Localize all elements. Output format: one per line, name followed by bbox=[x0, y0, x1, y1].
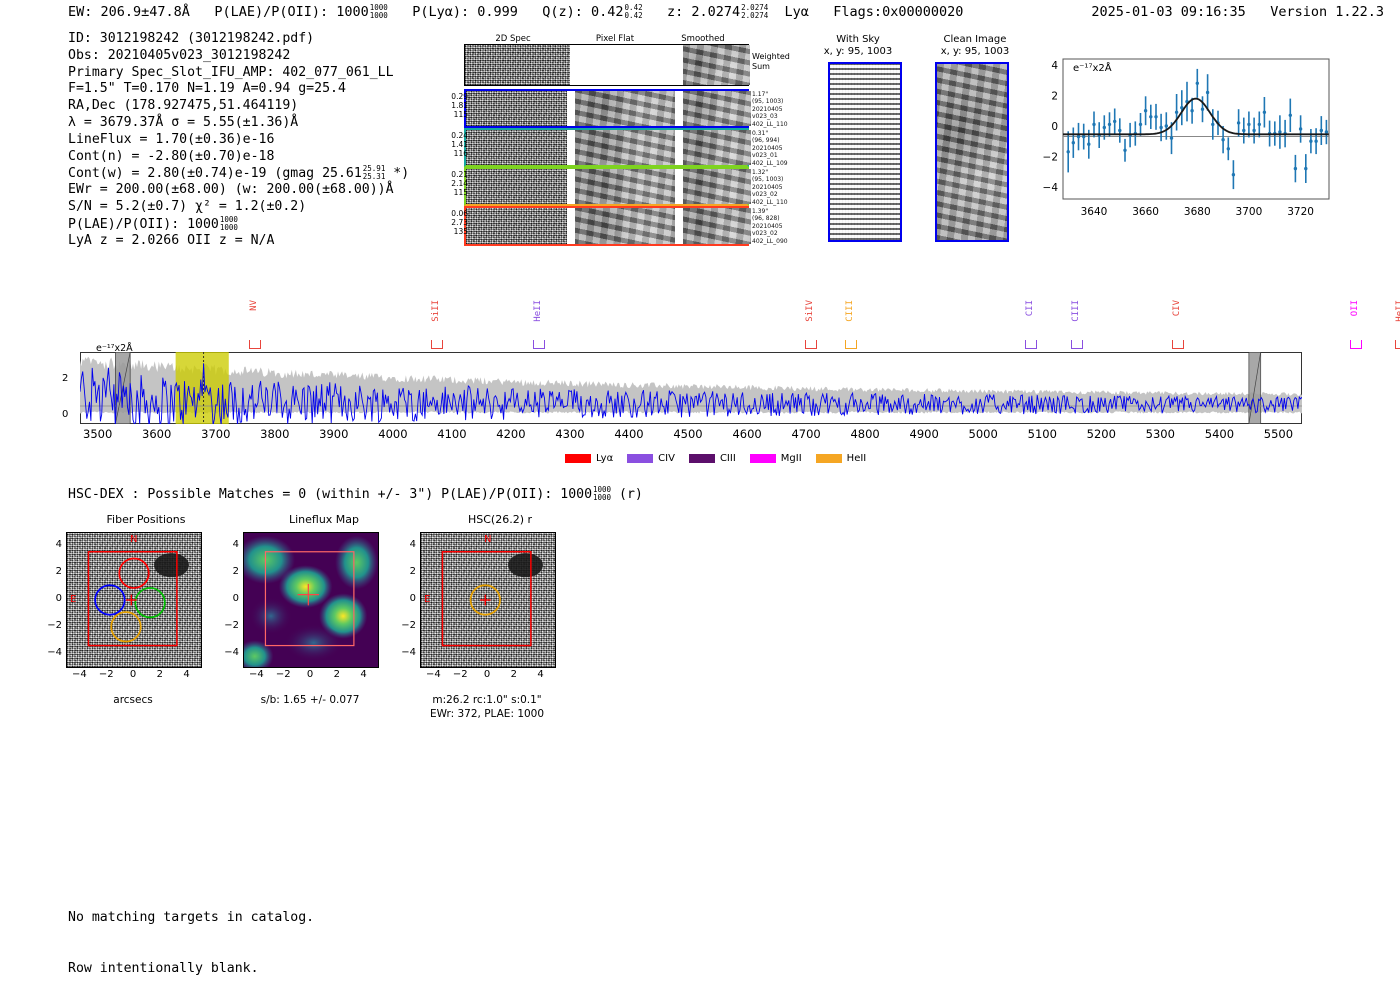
cutout-1-xtick-2: 0 bbox=[300, 669, 320, 680]
full-spectrum-xtick: 5300 bbox=[1138, 427, 1182, 441]
line-marker-bracket-1 bbox=[431, 340, 443, 349]
info-gmag-fraction: 25.9125.31 bbox=[363, 165, 386, 181]
cutout-0-ytick-4: −4 bbox=[44, 647, 62, 658]
header-ew: EW: 206.9±47.8Å bbox=[68, 4, 190, 20]
full-spectrum-xtick: 4100 bbox=[430, 427, 474, 441]
cutout-1-ytick-2: 0 bbox=[221, 593, 239, 604]
fiber-row-2 bbox=[464, 128, 749, 167]
fiber-row-3-meta: 1.32"(95, 1003) 20210405v023_02402_LL_11… bbox=[752, 169, 812, 206]
fiber-row-4-values: 0.062.73135 bbox=[438, 209, 468, 237]
line-marker-bracket-4 bbox=[845, 340, 857, 349]
footer-line-2: Row intentionally blank. bbox=[68, 960, 314, 977]
cutout-0-xtick-4: 4 bbox=[177, 669, 197, 680]
full-spectrum-ytick-2: 2 bbox=[62, 373, 68, 384]
info-radec: RA,Dec (178.927475,51.464119) bbox=[68, 98, 409, 115]
line-marker-civ-7: CIV bbox=[1172, 300, 1182, 316]
svg-text:−2: −2 bbox=[1043, 151, 1058, 163]
full-spectrum-line-markers: NVSiIIHeIISiIVCIIICIICIIICIVOIIHeIICIIMg… bbox=[0, 300, 1400, 355]
svg-text:3680: 3680 bbox=[1184, 206, 1211, 218]
svg-text:3660: 3660 bbox=[1132, 206, 1159, 218]
header-timestamp: 2025-01-03 09:16:35 bbox=[1091, 4, 1245, 20]
legend-label-lyα: Lyα bbox=[596, 453, 613, 464]
panel-title-smoothed: Smoothed bbox=[668, 34, 738, 44]
cutout-2-ytick-3: −2 bbox=[398, 620, 416, 631]
line-fit-svg: 36403660368037003720 −4−2024 bbox=[1035, 55, 1335, 230]
panel-label-weighted-sum: WeightedSum bbox=[752, 52, 790, 71]
header-plae-label: P(LAE)/P(OII): 1000 bbox=[214, 4, 368, 20]
full-spectrum-xtick: 4400 bbox=[607, 427, 651, 441]
legend-swatch-heii bbox=[816, 454, 842, 463]
header-flags: Flags:0x00000020 bbox=[833, 4, 963, 20]
full-spectrum-xtick: 4000 bbox=[371, 427, 415, 441]
header-meta: 2025-01-03 09:16:35 Version 1.22.3 bbox=[1091, 4, 1384, 20]
legend-swatch-civ bbox=[627, 454, 653, 463]
legend-label-heii: HeII bbox=[847, 453, 867, 464]
legend-swatch-ciii bbox=[689, 454, 715, 463]
line-marker-bracket-2 bbox=[533, 340, 545, 349]
hsc-r-overlay bbox=[421, 533, 555, 667]
line-marker-bracket-3 bbox=[805, 340, 817, 349]
line-marker-ciii-6: CIII bbox=[1071, 300, 1081, 322]
full-spectrum-xtick: 4500 bbox=[666, 427, 710, 441]
cutout-1-ytick-0: 4 bbox=[221, 539, 239, 550]
weighted-sum-strip bbox=[464, 44, 749, 86]
cutout-2-xtick-4: 4 bbox=[531, 669, 551, 680]
full-spectrum-xtick: 3600 bbox=[135, 427, 179, 441]
cutout-2-xtick-2: 0 bbox=[477, 669, 497, 680]
full-spectrum-xtick: 5500 bbox=[1256, 427, 1300, 441]
cutout-2-ytick-2: 0 bbox=[398, 593, 416, 604]
line-marker-nv-0: NV bbox=[249, 300, 259, 311]
cutout-2-xtick-1: −2 bbox=[450, 669, 470, 680]
footer-line-1: No matching targets in catalog. bbox=[68, 909, 314, 926]
info-plae-fraction: 10001000 bbox=[220, 216, 238, 232]
line-marker-oii-8: OII bbox=[1350, 300, 1360, 316]
line-marker-siii-1: SiII bbox=[431, 300, 441, 322]
with-sky-image bbox=[828, 62, 902, 242]
info-cont-w: Cont(w) = 2.80(±0.74)e-19 (gmag 25.6125.… bbox=[68, 165, 409, 182]
full-spectrum-xtick: 5100 bbox=[1020, 427, 1064, 441]
header-z-type: Lyα bbox=[785, 4, 809, 20]
fiber-row-4-meta: 1.39"(96, 828) 20210405v023_02402_LL_090 bbox=[752, 208, 812, 245]
cutout-caption-hsc-2: EWr: 372, PLAE: 1000 bbox=[387, 708, 587, 720]
cutout-1-xtick-1: −2 bbox=[273, 669, 293, 680]
cutout-1-ytick-4: −4 bbox=[221, 647, 239, 658]
info-lambda: λ = 3679.37Å σ = 5.55(±1.36)Å bbox=[68, 115, 409, 132]
panel-clean-image-header: Clean Imagex, y: 95, 1003 bbox=[925, 34, 1025, 58]
lineflux-map-overlay bbox=[244, 533, 378, 667]
info-primary-spec: Primary Spec_Slot_IFU_AMP: 402_077_061_L… bbox=[68, 65, 409, 82]
compass-n-label-3: N bbox=[484, 534, 491, 545]
fiber-row-1 bbox=[464, 89, 749, 128]
panel-title-2dspec: 2D Spec bbox=[478, 34, 548, 44]
svg-text:3640: 3640 bbox=[1081, 206, 1108, 218]
legend-item-ciii: CIII bbox=[689, 453, 736, 464]
header-qz-fraction: 0.420.42 bbox=[625, 4, 643, 20]
full-spectrum-xtick: 4700 bbox=[784, 427, 828, 441]
full-spectrum-xtick: 3500 bbox=[76, 427, 120, 441]
fiber-row-4 bbox=[464, 206, 749, 246]
compass-e-label-3: E bbox=[424, 594, 430, 605]
cutout-caption-arcsecs: arcsecs bbox=[33, 694, 233, 706]
cutout-2-ytick-1: 2 bbox=[398, 566, 416, 577]
full-spectrum-xtick: 4600 bbox=[725, 427, 769, 441]
header-qz-label: Q(z): 0.42 bbox=[542, 4, 623, 20]
legend-item-heii: HeII bbox=[816, 453, 867, 464]
svg-text:2: 2 bbox=[1051, 91, 1058, 103]
clean-image bbox=[935, 62, 1009, 242]
source-info-block: ID: 3012198242 (3012198242.pdf) Obs: 202… bbox=[68, 31, 409, 249]
full-spectrum-xtick: 4900 bbox=[902, 427, 946, 441]
header-summary-line: EW: 206.9±47.8Å P(LAE)/P(OII): 100010001… bbox=[68, 4, 963, 20]
full-spectrum-xaxis: 3500360037003800390040004100420043004400… bbox=[0, 427, 1400, 443]
cutout-1-xtick-0: −4 bbox=[246, 669, 266, 680]
cutout-0-ytick-2: 0 bbox=[44, 593, 62, 604]
cutout-0-ytick-0: 4 bbox=[44, 539, 62, 550]
legend-label-mgii: MgII bbox=[781, 453, 802, 464]
fiber-row-3-values: 0.212.14115 bbox=[438, 170, 468, 198]
fiber-row-2-values: 0.241.41116 bbox=[438, 131, 468, 159]
header-z-fraction: 2.02742.0274 bbox=[741, 4, 768, 20]
line-marker-bracket-9 bbox=[1395, 340, 1400, 349]
cutout-0-xtick-0: −4 bbox=[69, 669, 89, 680]
full-spectrum-xtick: 3700 bbox=[194, 427, 238, 441]
fiber-row-1-meta: 1.17"(95, 1003) 20210405v023_03402_LL_11… bbox=[752, 91, 812, 128]
full-spectrum-legend: LyαCIVCIIIMgIIHeII bbox=[565, 452, 866, 464]
full-spectrum-xtick: 4200 bbox=[489, 427, 533, 441]
legend-swatch-lyα bbox=[565, 454, 591, 463]
line-marker-bracket-6 bbox=[1071, 340, 1083, 349]
cutout-2-ytick-0: 4 bbox=[398, 539, 416, 550]
info-lineflux: LineFlux = 1.70(±0.36)e-16 bbox=[68, 132, 409, 149]
line-marker-heii-9: HeII bbox=[1395, 300, 1400, 322]
cutout-title-lineflux-map: Lineflux Map bbox=[244, 513, 404, 526]
info-obs: Obs: 20210405v023_3012198242 bbox=[68, 48, 409, 65]
full-spectrum-xtick: 3800 bbox=[253, 427, 297, 441]
footer-messages: No matching targets in catalog. Row inte… bbox=[68, 875, 314, 994]
line-marker-bracket-7 bbox=[1172, 340, 1184, 349]
fiber-row-3 bbox=[464, 167, 749, 206]
cutout-2-ytick-4: −4 bbox=[398, 647, 416, 658]
info-snr: S/N = 5.2(±0.7) χ² = 1.2(±0.2) bbox=[68, 199, 409, 216]
hsc-r-image[interactable] bbox=[420, 532, 556, 668]
line-marker-heii-2: HeII bbox=[533, 300, 543, 322]
cutout-title-hsc-r: HSC(26.2) r bbox=[420, 513, 580, 526]
compass-n-label-1: N bbox=[130, 534, 137, 545]
svg-text:3700: 3700 bbox=[1236, 206, 1263, 218]
fiber-row-2-meta: 0.31"(96, 994) 20210405v023_01402_LL_109 bbox=[752, 130, 812, 167]
svg-text:0: 0 bbox=[1051, 121, 1058, 133]
line-marker-siiv-3: SiIV bbox=[805, 300, 815, 322]
full-spectrum-xtick: 4300 bbox=[548, 427, 592, 441]
full-spectrum-plot bbox=[80, 352, 1302, 424]
info-seeing: F=1.5" T=0.170 N=1.19 A=0.94 g=25.4 bbox=[68, 81, 409, 98]
header-plya: P(Lyα): 0.999 bbox=[412, 4, 518, 20]
lineflux-map-image[interactable] bbox=[243, 532, 379, 668]
line-marker-ciii-4: CIII bbox=[845, 300, 855, 322]
cutout-1-ytick-1: 2 bbox=[221, 566, 239, 577]
line-marker-bracket-5 bbox=[1025, 340, 1037, 349]
info-plae: P(LAE)/P(OII): 100010001000 bbox=[68, 216, 409, 233]
legend-label-ciii: CIII bbox=[720, 453, 736, 464]
compass-e-label-1: E bbox=[70, 594, 76, 605]
legend-label-civ: CIV bbox=[658, 453, 675, 464]
info-ewr: EWr = 200.00(±68.00) (w: 200.00(±68.00))… bbox=[68, 182, 409, 199]
full-spectrum-xtick: 5000 bbox=[961, 427, 1005, 441]
svg-text:3720: 3720 bbox=[1287, 206, 1314, 218]
full-spectrum-ytick-0: 0 bbox=[62, 409, 68, 420]
line-marker-bracket-0 bbox=[249, 340, 261, 349]
cutout-1-xtick-3: 2 bbox=[327, 669, 347, 680]
cutout-1-ytick-3: −2 bbox=[221, 620, 239, 631]
cutout-2-xtick-0: −4 bbox=[423, 669, 443, 680]
header-z-label: z: 2.0274 bbox=[667, 4, 740, 20]
panel-title-pixelflat: Pixel Flat bbox=[580, 34, 650, 44]
line-marker-cii-5: CII bbox=[1025, 300, 1035, 316]
cutout-0-ytick-3: −2 bbox=[44, 620, 62, 631]
hsc-plae-fraction: 10001000 bbox=[593, 486, 611, 502]
cutout-0-xtick-1: −2 bbox=[96, 669, 116, 680]
full-spectrum-xtick: 5200 bbox=[1079, 427, 1123, 441]
fiber-positions-overlay bbox=[67, 533, 201, 667]
cutout-1-xtick-4: 4 bbox=[354, 669, 374, 680]
cutout-2-xtick-3: 2 bbox=[504, 669, 524, 680]
full-spectrum-xtick: 4800 bbox=[843, 427, 887, 441]
panel-with-sky-header: With Skyx, y: 95, 1003 bbox=[813, 34, 903, 58]
legend-swatch-mgii bbox=[750, 454, 776, 463]
info-id: ID: 3012198242 (3012198242.pdf) bbox=[68, 31, 409, 48]
cutout-0-ytick-1: 2 bbox=[44, 566, 62, 577]
cutout-0-xtick-2: 0 bbox=[123, 669, 143, 680]
svg-text:−4: −4 bbox=[1043, 182, 1059, 194]
legend-item-civ: CIV bbox=[627, 453, 675, 464]
full-spectrum-xtick: 5400 bbox=[1197, 427, 1241, 441]
cutout-caption-sb: s/b: 1.65 +/- 0.077 bbox=[210, 694, 410, 706]
fiber-row-1-values: 0.291.81115 bbox=[438, 92, 468, 120]
line-marker-bracket-8 bbox=[1350, 340, 1362, 349]
header-plae-fraction: 10001000 bbox=[370, 4, 388, 20]
cutout-0-xtick-3: 2 bbox=[150, 669, 170, 680]
line-fit-plot: 36403660368037003720 −4−2024 e⁻¹⁷x2Å bbox=[1035, 55, 1335, 230]
fiber-positions-image[interactable] bbox=[66, 532, 202, 668]
cutout-title-fiber-positions: Fiber Positions bbox=[66, 513, 226, 526]
legend-item-lyα: Lyα bbox=[565, 453, 613, 464]
legend-item-mgii: MgII bbox=[750, 453, 802, 464]
cutout-caption-hsc-1: m:26.2 rc:1.0" s:0.1" bbox=[387, 694, 587, 706]
svg-text:4: 4 bbox=[1051, 60, 1058, 72]
header-version: Version 1.22.3 bbox=[1270, 4, 1384, 20]
full-spectrum-xtick: 3900 bbox=[312, 427, 356, 441]
line-fit-units-label: e⁻¹⁷x2Å bbox=[1073, 63, 1112, 74]
full-spectrum-svg bbox=[80, 352, 1302, 424]
hsc-dex-summary: HSC-DEX : Possible Matches = 0 (within +… bbox=[68, 486, 643, 502]
info-redshifts: LyA z = 2.0266 OII z = N/A bbox=[68, 233, 409, 250]
info-cont-n: Cont(n) = -2.80(±0.70)e-18 bbox=[68, 149, 409, 166]
